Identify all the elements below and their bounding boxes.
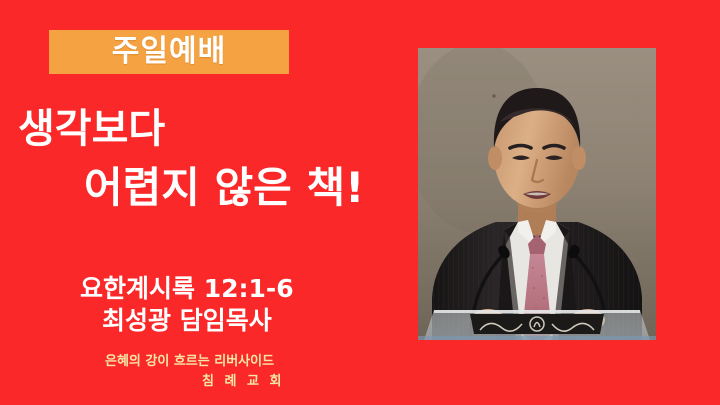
sermon-title-slide: 주일예배 생각보다 어렵지 않은 책! 요한계시록 12:1-6 최성광 담임목… [0, 0, 720, 405]
sermon-title-line-2: 어렵지 않은 책! [84, 165, 420, 210]
scripture-and-speaker: 요한계시록 12:1-6 최성광 담임목사 [0, 273, 420, 337]
service-type-label: 주일예배 [112, 37, 226, 67]
speaker-photo [418, 48, 656, 340]
scripture-reference: 요한계시록 12:1-6 [80, 273, 420, 305]
sermon-title-line-1: 생각보다 [18, 108, 420, 151]
service-type-badge: 주일예배 [49, 30, 289, 74]
speaker-photo-illustration [418, 48, 656, 340]
church-name: 침 례 교 회 [202, 372, 420, 392]
speaker-name: 최성광 담임목사 [102, 305, 420, 337]
church-identity: 은혜의 강이 흐르는 리버사이드 침 례 교 회 [0, 352, 420, 391]
church-tagline: 은혜의 강이 흐르는 리버사이드 [105, 352, 420, 372]
sermon-title: 생각보다 어렵지 않은 책! [0, 108, 420, 211]
